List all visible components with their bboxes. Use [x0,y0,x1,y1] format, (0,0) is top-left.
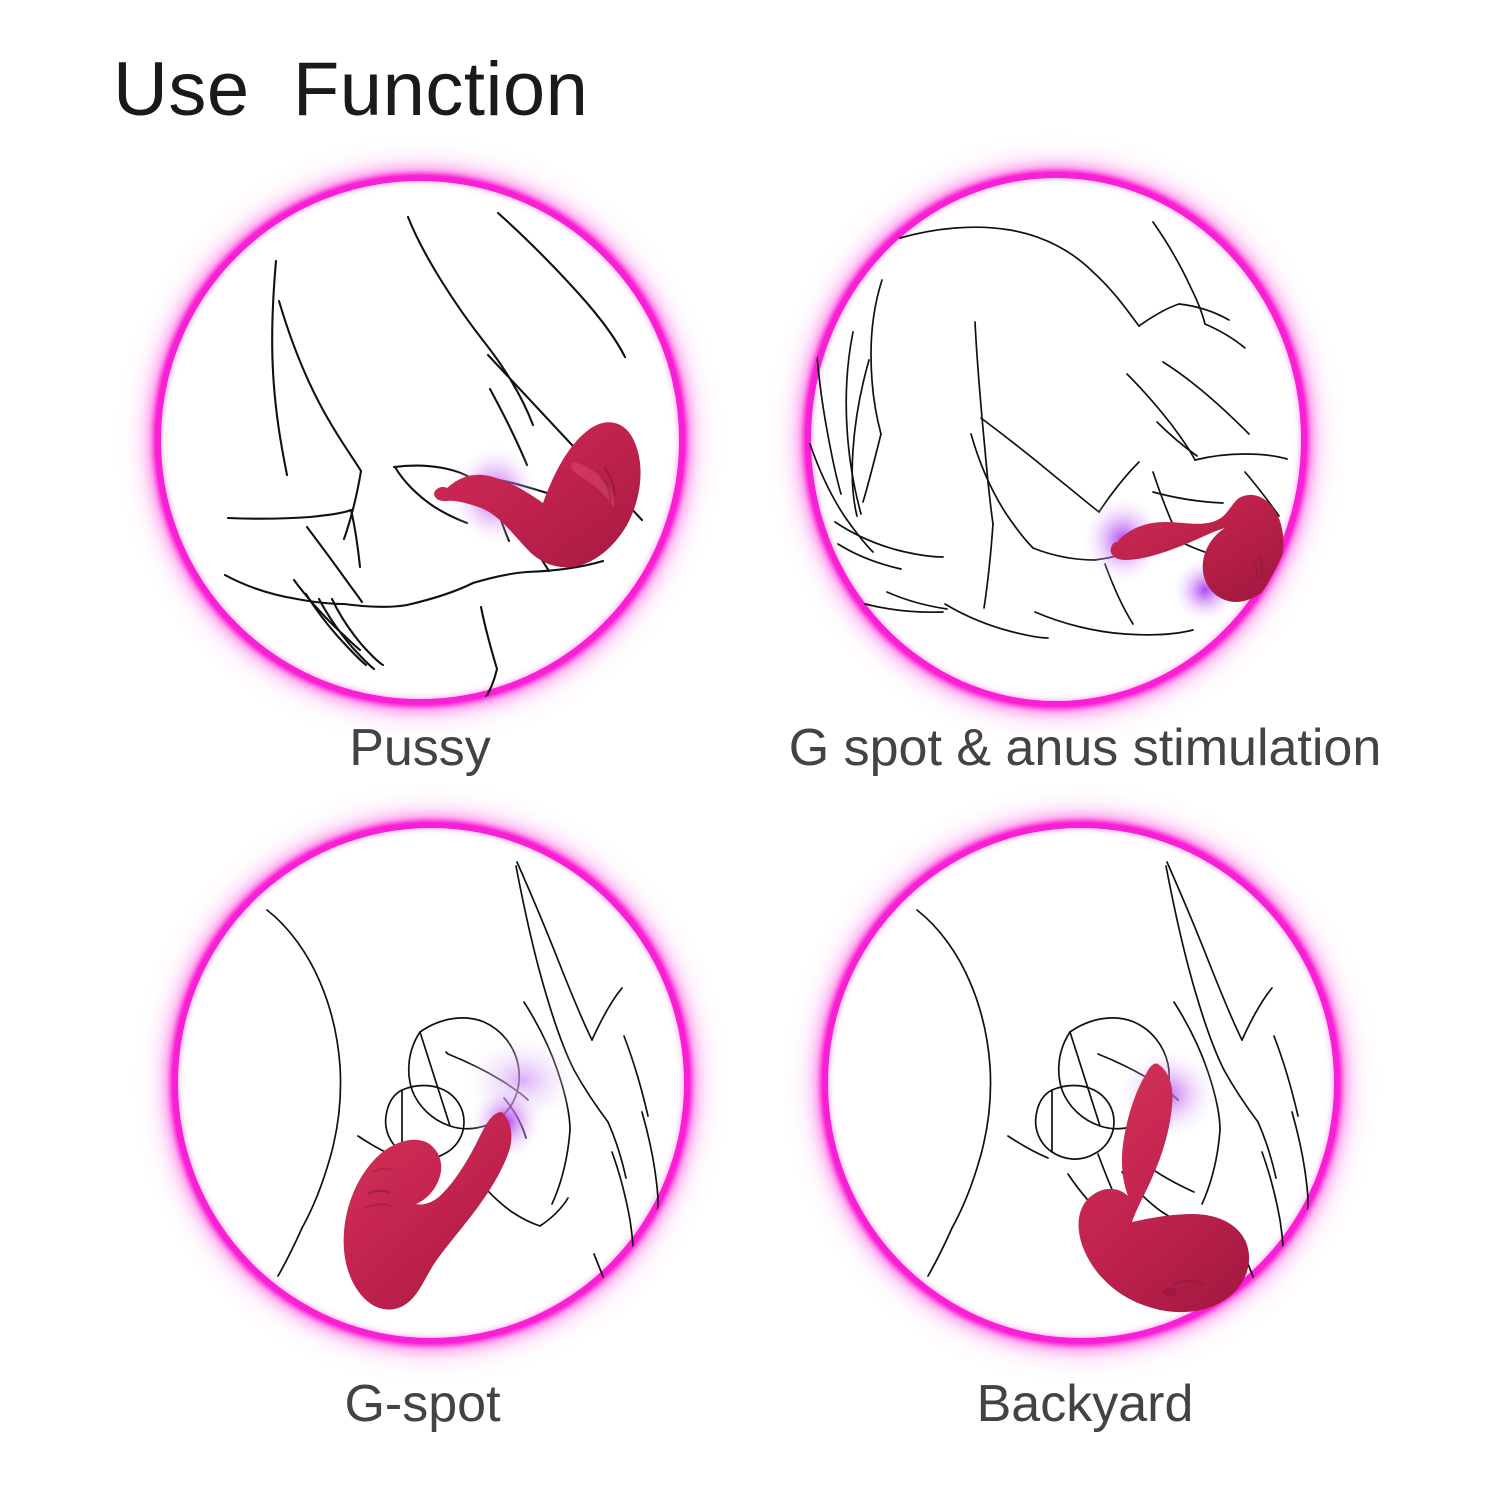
panel-gspot[interactable] [172,822,690,1344]
illustration-pussy-icon [155,175,685,705]
panel-gspot-circle [172,822,690,1344]
panel-backyard-circle [822,822,1340,1344]
toy-device [1079,1063,1250,1312]
panel-pussy-circle [155,175,685,705]
illustration-backyard-icon [822,822,1340,1344]
caption-gspot-anus: G spot & anus stimulation [700,722,1470,774]
panel-backyard[interactable] [822,822,1340,1344]
caption-backyard: Backyard [700,1378,1470,1430]
panel-pussy[interactable] [155,175,685,705]
panel-gspot-anus-circle [805,172,1307,707]
toy-device [344,1112,512,1310]
panel-gspot-anus[interactable] [805,172,1307,707]
illustration-g-spot-and-anus-icon [805,172,1307,707]
illustration-g-spot-icon [172,822,690,1344]
